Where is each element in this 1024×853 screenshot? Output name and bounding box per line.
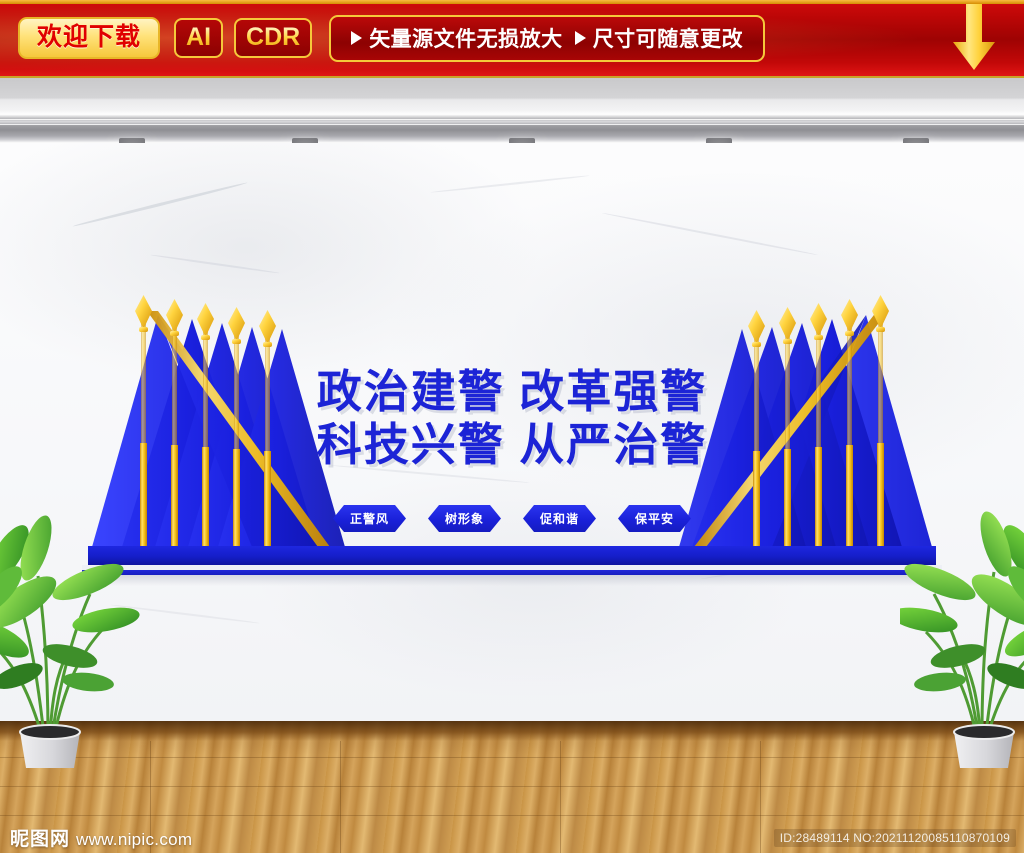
promo-feature-group: 矢量源文件无损放大 尺寸可随意更改 bbox=[329, 15, 765, 62]
brand-url: www.nipic.com bbox=[76, 830, 192, 850]
play-triangle-icon bbox=[351, 31, 362, 45]
format-chip-cdr-label: CDR bbox=[246, 23, 300, 51]
format-chip-ai-label: AI bbox=[186, 23, 211, 51]
artwork-badge-row: 正警风 树形象 促和谐 保平安 bbox=[0, 505, 1024, 532]
promo-feature-1-label: 矢量源文件无损放大 bbox=[369, 23, 563, 53]
brand-name-cn: 昵图网 bbox=[10, 824, 70, 851]
artwork-base-bar bbox=[88, 546, 936, 565]
headline-line-2: 科技兴警 从严治警 bbox=[0, 418, 1024, 471]
promo-banner: 欢迎下载 AI CDR 矢量源文件无损放大 尺寸可随意更改 bbox=[0, 0, 1024, 78]
potted-plant-icon bbox=[0, 470, 142, 770]
badge-zhengjingfeng[interactable]: 正警风 bbox=[333, 505, 406, 532]
floor-wall-seam bbox=[0, 721, 1024, 741]
play-triangle-icon bbox=[575, 31, 586, 45]
footer-watermark: 昵图网 www.nipic.com ID:28489114 NO:2021112… bbox=[0, 822, 1024, 853]
artwork-headline: 政治建警 改革强警 科技兴警 从严治警 bbox=[0, 365, 1024, 471]
badge-label: 树形象 bbox=[445, 510, 484, 527]
format-chip-cdr[interactable]: CDR bbox=[234, 18, 312, 58]
welcome-download-badge[interactable]: 欢迎下载 bbox=[18, 17, 160, 59]
badge-label: 促和谐 bbox=[540, 510, 579, 527]
badge-shuxingxiang[interactable]: 树形象 bbox=[428, 505, 501, 532]
promo-feature-1: 矢量源文件无损放大 bbox=[351, 23, 563, 53]
badge-label: 正警风 bbox=[350, 510, 389, 527]
badge-cuhexie[interactable]: 促和谐 bbox=[523, 505, 596, 532]
screenshot-root: 欢迎下载 AI CDR 矢量源文件无损放大 尺寸可随意更改 bbox=[0, 0, 1024, 853]
promo-feature-2-label: 尺寸可随意更改 bbox=[593, 23, 744, 53]
cornice-groove bbox=[0, 119, 1024, 120]
potted-plant-icon bbox=[900, 468, 1024, 770]
badge-label: 保平安 bbox=[635, 510, 674, 527]
format-chip-ai[interactable]: AI bbox=[174, 18, 223, 58]
headline-line-1: 政治建警 改革强警 bbox=[0, 365, 1024, 418]
brand-logo: 昵图网 www.nipic.com bbox=[10, 824, 192, 851]
promo-feature-2: 尺寸可随意更改 bbox=[575, 23, 744, 53]
artwork-base-shadow bbox=[78, 575, 946, 586]
asset-id-label: ID:28489114 NO:20211120085110870109 bbox=[774, 829, 1016, 847]
cornice-groove bbox=[0, 124, 1024, 125]
download-arrow-icon[interactable] bbox=[952, 4, 996, 72]
ceiling-cornice bbox=[0, 78, 1024, 130]
badge-baopingan[interactable]: 保平安 bbox=[618, 505, 691, 532]
